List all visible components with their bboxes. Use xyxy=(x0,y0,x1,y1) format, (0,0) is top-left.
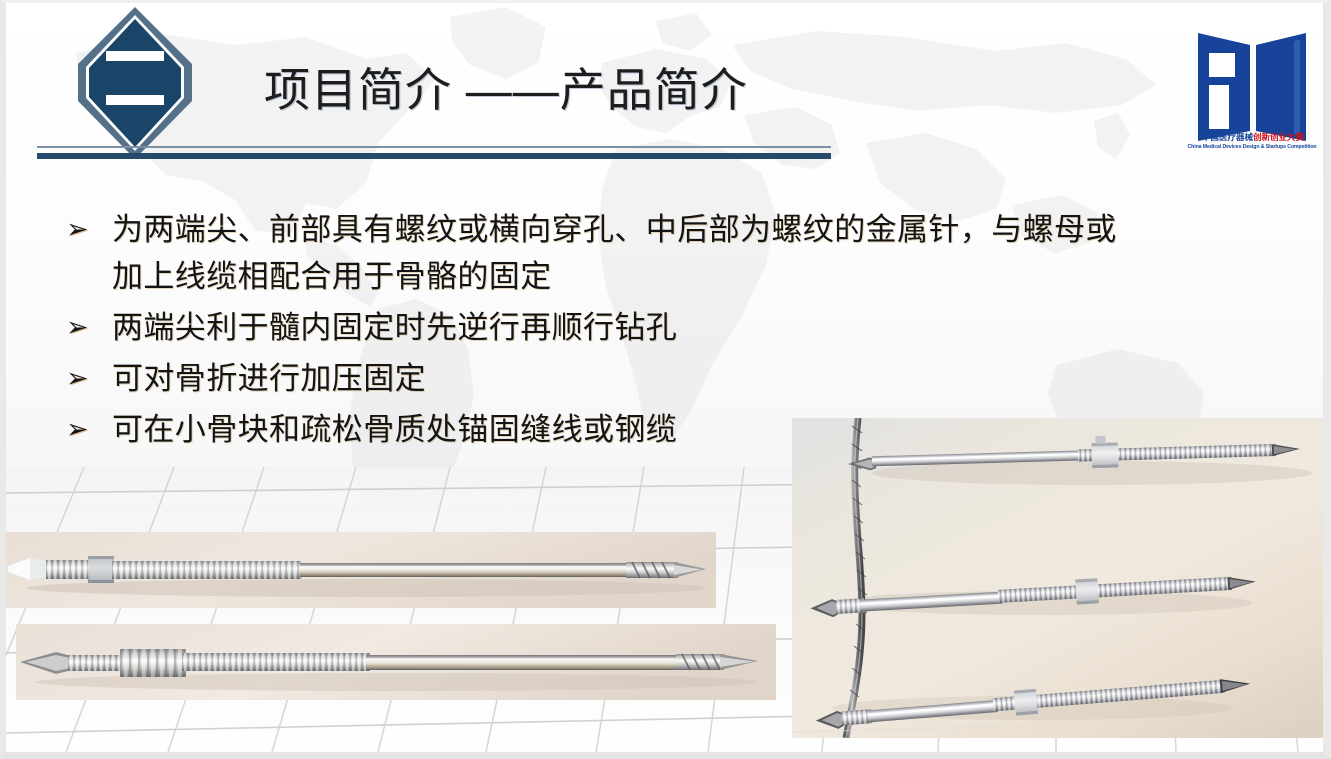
list-item: ➢ 为两端尖、前部具有螺纹或横向穿孔、中后部为螺纹的金属针，与螺母或 加上线缆相… xyxy=(66,206,1246,300)
bullet-arrow-icon: ➢ xyxy=(66,355,112,402)
bullet-text: 两端尖利于髓内固定时先逆行再顺行钻孔 xyxy=(112,304,1246,351)
bullet-arrow-icon: ➢ xyxy=(66,304,112,351)
brand-logo-chinese-prefix: 中国医疗器械 xyxy=(1202,132,1253,142)
page-title: 项目简介 ——产品简介 xyxy=(264,65,748,117)
brand-logo: 中国医疗器械创新创业大赛 China Medical Devices Desig… xyxy=(1176,11,1323,159)
bullet-line-1: 可对骨折进行加压固定 xyxy=(112,361,426,396)
brand-logo-chinese-accent: 创新创业大赛 xyxy=(1253,132,1304,142)
diamond-emblem-icon xyxy=(42,5,228,161)
list-item: ➢ 可对骨折进行加压固定 xyxy=(66,355,1246,402)
slide-canvas: 项目简介 ——产品简介 xyxy=(6,3,1323,752)
bullet-text: 为两端尖、前部具有螺纹或横向穿孔、中后部为螺纹的金属针，与螺母或 加上线缆相配合… xyxy=(112,206,1246,300)
presentation-slide: 项目简介 ——产品简介 xyxy=(0,0,1331,759)
photo-pin-with-nut-top xyxy=(6,532,716,608)
bullet-line-1: 可在小骨块和疏松骨质处锚固缝线或钢缆 xyxy=(112,412,677,447)
photo-three-pins-with-cable xyxy=(792,418,1323,738)
photo-pin-bottom xyxy=(16,624,776,700)
bullet-text: 可对骨折进行加压固定 xyxy=(112,355,1246,402)
bullet-arrow-icon: ➢ xyxy=(66,206,112,253)
title-rule-thick xyxy=(37,153,831,159)
bullet-line-1: 两端尖利于髓内固定时先逆行再顺行钻孔 xyxy=(112,310,677,345)
brand-logo-english: China Medical Devices Design & Startups … xyxy=(1176,144,1323,150)
bullet-line-1: 为两端尖、前部具有螺纹或横向穿孔、中后部为螺纹的金属针，与螺母或 xyxy=(112,212,1117,247)
list-item: ➢ 两端尖利于髓内固定时先逆行再顺行钻孔 xyxy=(66,304,1246,351)
title-rule-thin xyxy=(37,146,831,148)
bullet-line-2: 加上线缆相配合用于骨骼的固定 xyxy=(112,253,1246,300)
bullet-arrow-icon: ➢ xyxy=(66,406,112,453)
